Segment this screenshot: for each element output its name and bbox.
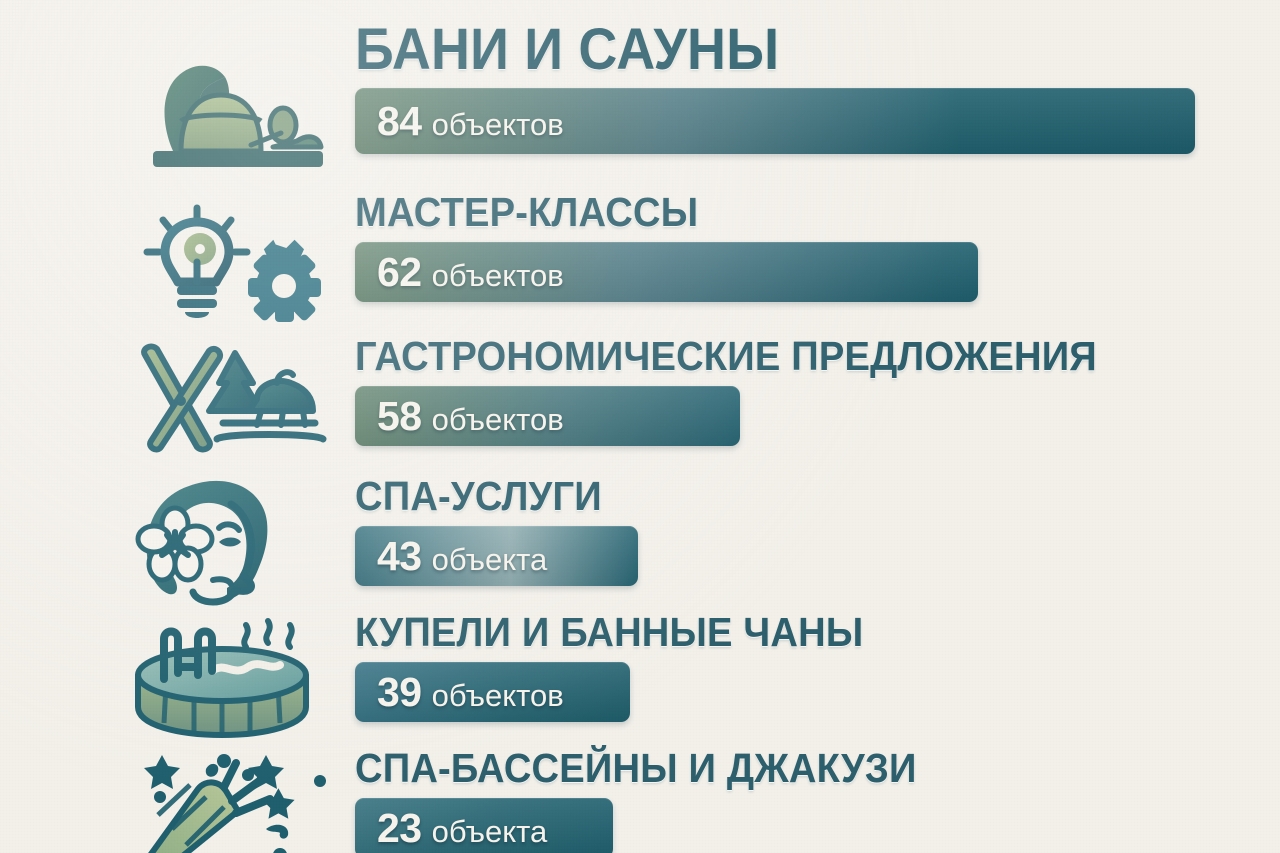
value-bar: 58 объектов (355, 386, 740, 446)
category-title: СПА-УСЛУГИ (355, 472, 618, 520)
stat-row: БАНИ И САУНЫ 84 объектов (0, 18, 1280, 188)
row-content: КУПЕЛИ И БАННЫЕ ЧАНЫ 39 объектов (355, 608, 902, 722)
bar-value: 39 (377, 672, 422, 713)
stat-row: СПА-УСЛУГИ 43 объекта (0, 472, 1280, 610)
value-bar: 43 объекта (355, 526, 638, 586)
bar-unit: объектов (432, 404, 564, 435)
infographic-board: БАНИ И САУНЫ 84 объектов (0, 0, 1280, 853)
bar-value: 84 (377, 101, 422, 142)
stat-row: КУПЕЛИ И БАННЫЕ ЧАНЫ 39 объектов (0, 608, 1280, 744)
bar-value: 43 (377, 536, 422, 577)
woman-face-flower-icon (118, 472, 343, 612)
category-title: МАСТЕР-КЛАССЫ (355, 188, 934, 236)
bar-value: 23 (377, 808, 422, 849)
bar-value: 58 (377, 396, 422, 437)
bar-value: 62 (377, 252, 422, 293)
category-title: СПА-БАССЕЙНЫ И ДЖАКУЗИ (355, 744, 917, 792)
row-content: СПА-БАССЕЙНЫ И ДЖАКУЗИ 23 объекта (355, 744, 959, 853)
category-title: КУПЕЛИ И БАННЫЕ ЧАНЫ (355, 608, 863, 656)
skis-tree-snowmobile-icon (118, 332, 343, 472)
bar-unit: объектов (432, 260, 564, 291)
bar-label: 58 объектов (355, 396, 564, 437)
row-content: СПА-УСЛУГИ 43 объекта (355, 472, 638, 586)
value-bar: 84 объектов (355, 88, 1195, 154)
row-content: ГАСТРОНОМИЧЕСКИЕ ПРЕДЛОЖЕНИЯ 58 объектов (355, 332, 1153, 446)
bar-label: 39 объектов (355, 672, 564, 713)
stat-row: ГАСТРОНОМИЧЕСКИЕ ПРЕДЛОЖЕНИЯ 58 объектов (0, 332, 1280, 472)
sauna-bathhouse-icon (118, 28, 343, 188)
category-title: БАНИ И САУНЫ (355, 18, 1136, 82)
row-content: БАНИ И САУНЫ 84 объектов (355, 18, 1195, 154)
bar-unit: объекта (432, 544, 548, 575)
category-title: ГАСТРОНОМИЧЕСКИЕ ПРЕДЛОЖЕНИЯ (355, 332, 1097, 380)
bar-label: 43 объекта (355, 536, 547, 577)
value-bar: 62 объектов (355, 242, 978, 302)
bar-unit: объектов (432, 109, 564, 140)
bar-unit: объекта (432, 816, 548, 847)
bar-label: 62 объектов (355, 252, 564, 293)
bar-label: 23 объекта (355, 808, 547, 849)
stat-row: СПА-БАССЕЙНЫ И ДЖАКУЗИ 23 объекта (0, 744, 1280, 853)
row-content: МАСТЕР-КЛАССЫ 62 объектов (355, 188, 978, 302)
lightbulb-gear-icon (118, 190, 343, 330)
hot-tub-steam-icon (118, 608, 343, 748)
value-bar: 39 объектов (355, 662, 630, 722)
party-popper-icon (118, 744, 343, 853)
stat-row: МАСТЕР-КЛАССЫ 62 объектов (0, 188, 1280, 330)
bar-unit: объектов (432, 680, 564, 711)
value-bar: 23 объекта (355, 798, 613, 853)
bar-label: 84 объектов (355, 101, 564, 142)
